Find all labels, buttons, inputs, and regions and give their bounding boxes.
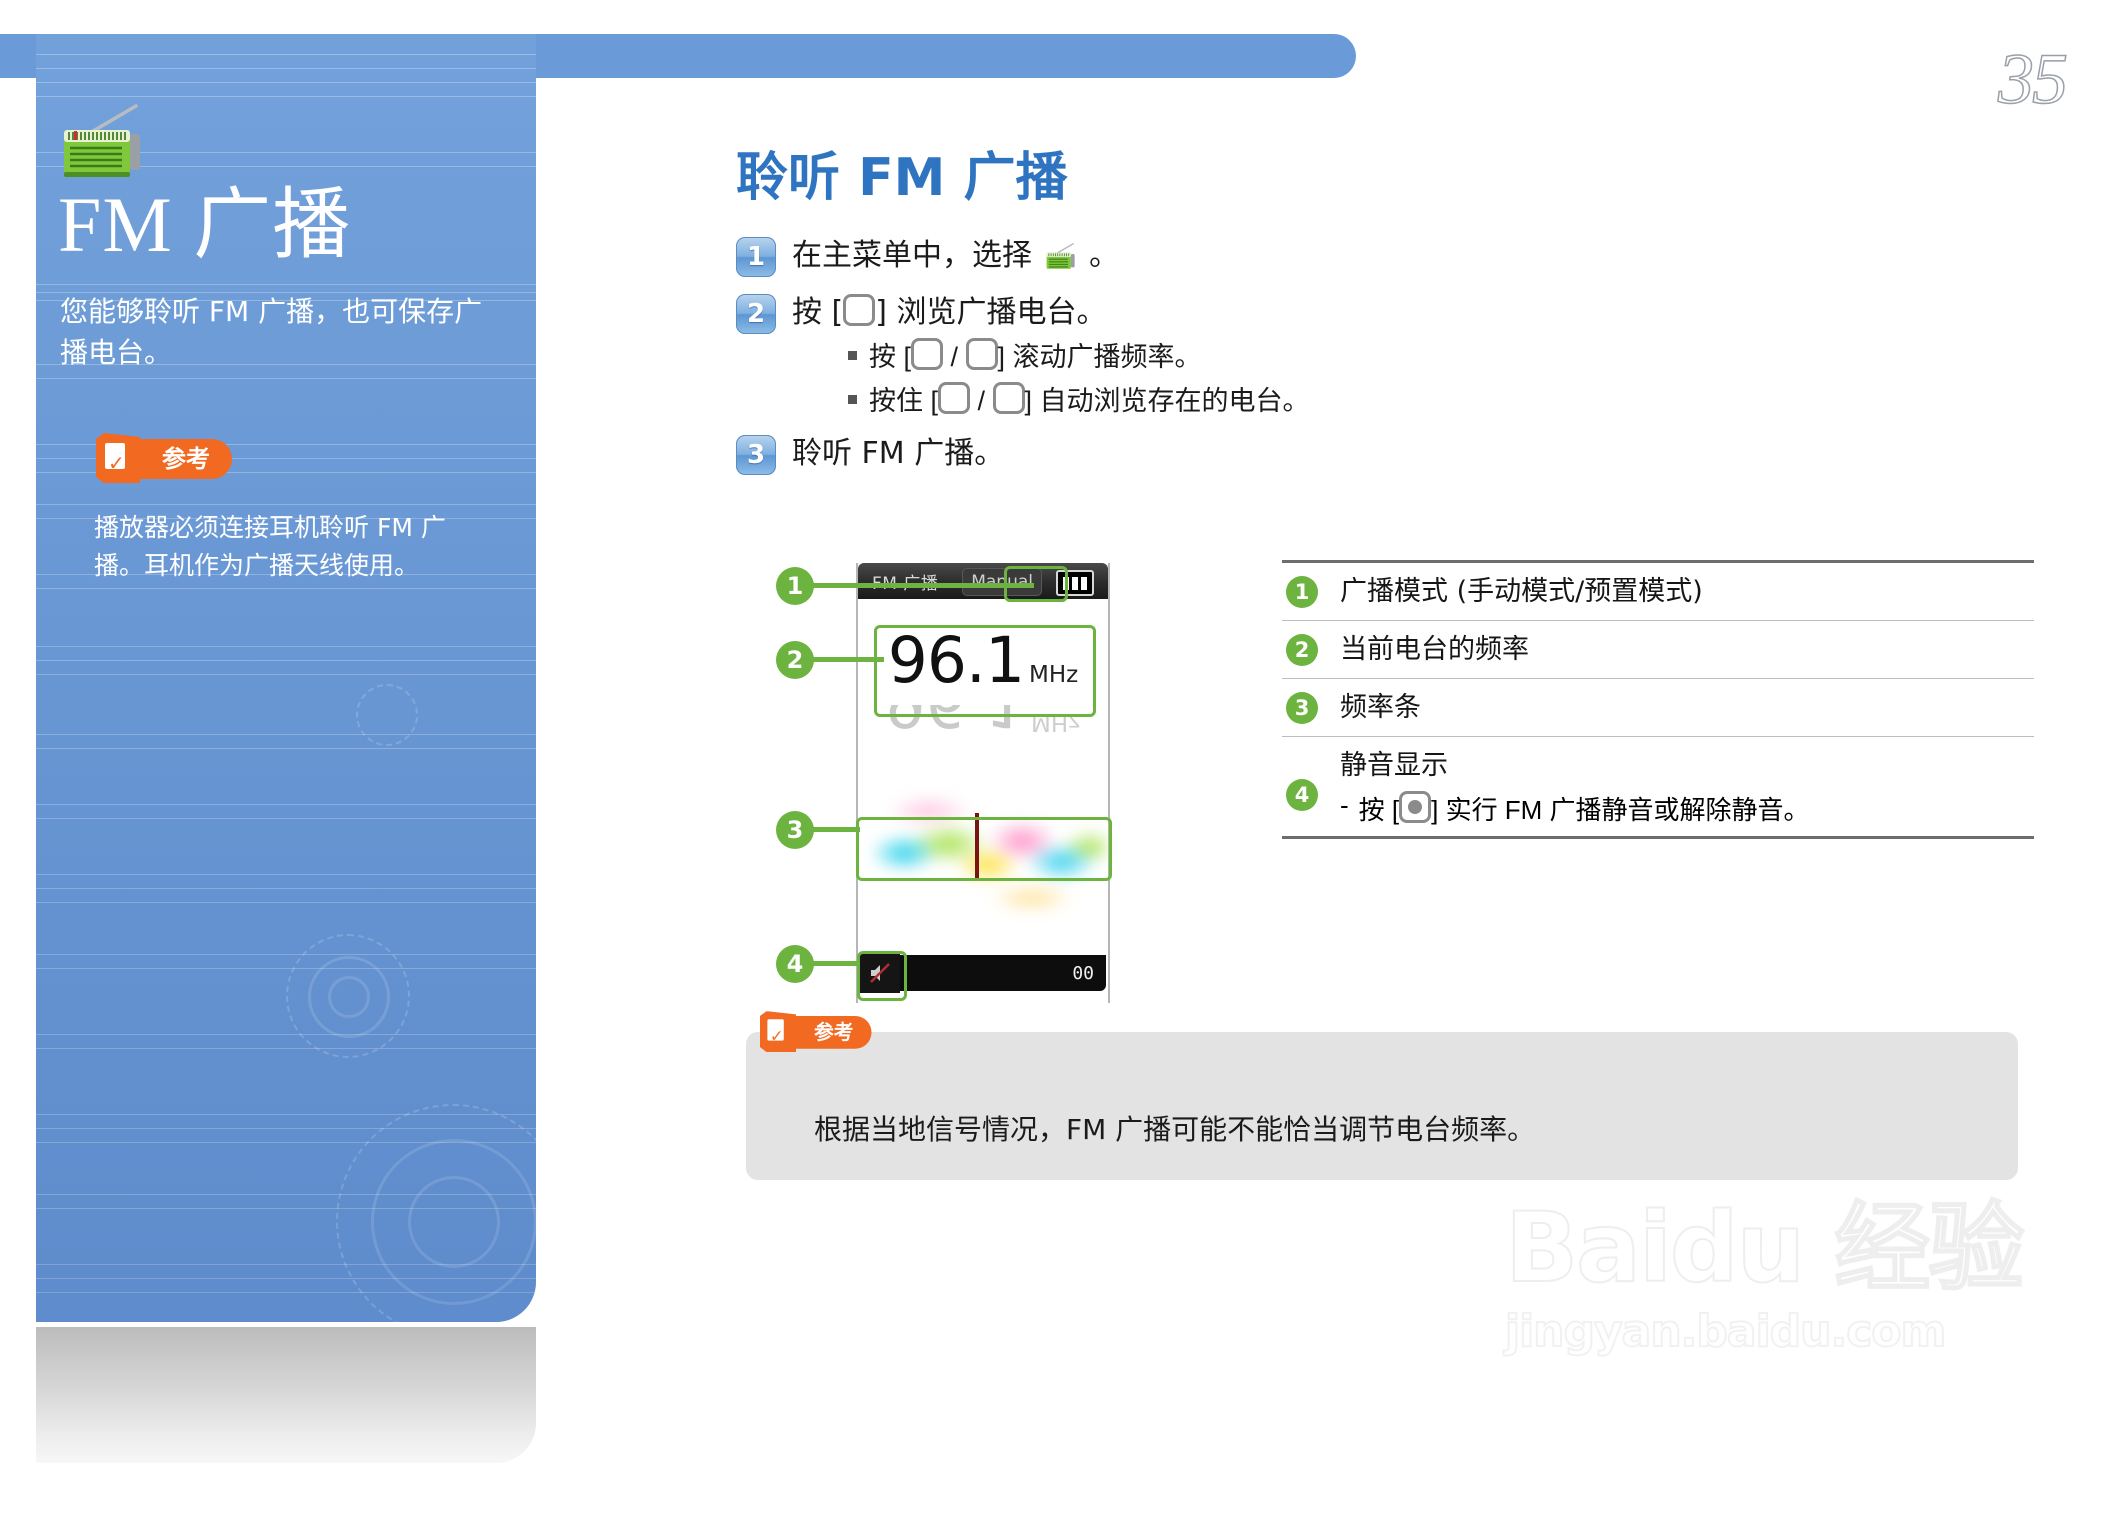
center-key-icon xyxy=(1399,791,1431,823)
page-number: 35 xyxy=(1998,38,2066,121)
step-2-text-after: ] 浏览广播电台。 xyxy=(875,295,1106,330)
step-1-text-after: 。 xyxy=(1089,238,1119,273)
step-1: 1 在主菜单中，选择 xyxy=(736,233,2066,284)
sidebar-title-cjk: 广播 xyxy=(193,180,351,270)
legend-table: 1 广播模式 (手动模式/预置模式) 2 当前电台的频率 3 频率条 4 静音显… xyxy=(1282,560,2034,839)
legend-subtext-4: - 按 [] 实行 FM 广播静音或解除静音。 xyxy=(1340,790,1810,827)
note-box-tag: ✓ 参考 xyxy=(760,1016,872,1049)
note-check-glyph: ✓ xyxy=(108,454,125,474)
highlight-frequency xyxy=(874,625,1096,717)
watermark-main: Baidu 经验 xyxy=(1505,1200,2025,1296)
sidebar-reflection xyxy=(36,1327,536,1463)
step-2-substep-1-text: 按 [ / ] 滚动广播频率。 xyxy=(869,337,1202,379)
bullet-icon xyxy=(848,351,857,360)
bullet-icon xyxy=(848,395,857,404)
step-3-text: 聆听 FM 广播。 xyxy=(792,431,1004,476)
sidebar-note-text: 播放器必须连接耳机聆听 FM 广播。耳机作为广播天线使用。 xyxy=(94,509,494,584)
legend-num-4: 4 xyxy=(1286,779,1318,811)
callout-3: 3 xyxy=(776,811,814,849)
step-1-text-before: 在主菜单中，选择 xyxy=(792,238,1032,273)
radio-icon xyxy=(1044,239,1078,284)
callout-4-leader xyxy=(812,961,860,966)
legend-num-3: 3 xyxy=(1286,692,1318,724)
highlight-mode xyxy=(1004,566,1068,602)
device-preset-count: 00 xyxy=(1072,963,1094,984)
legend-row-1: 1 广播模式 (手动模式/预置模式) xyxy=(1282,563,2034,620)
step-2-substep-1: 按 [ / ] 滚动广播频率。 xyxy=(848,337,1310,379)
note-box-text: 根据当地信号情况，FM 广播可能不能恰当调节电台频率。 xyxy=(814,1108,1535,1148)
callout-1-leader xyxy=(812,583,1034,588)
step-1-badge: 1 xyxy=(736,237,776,277)
legend-dash: - xyxy=(1340,790,1349,821)
step-2-badge: 2 xyxy=(736,294,776,334)
up-key-icon xyxy=(911,338,943,370)
legend-row-4: 4 静音显示 - 按 [] 实行 FM 广播静音或解除静音。 xyxy=(1282,737,2034,835)
step-2-text-before: 按 [ xyxy=(792,295,843,330)
baidu-watermark: Baidu 经验 jingyan.baidu.com xyxy=(1505,1200,2025,1440)
watermark-sub: jingyan.baidu.com xyxy=(1505,1306,2025,1357)
legend-rule-bottom xyxy=(1282,836,2034,839)
device-screen: FM 广播 Manual 96.1 MHz 96.1 MHz 00 xyxy=(856,563,1110,1003)
note-box: ✓ 参考 根据当地信号情况，FM 广播可能不能恰当调节电台频率。 xyxy=(746,1032,2018,1180)
callout-2: 2 xyxy=(776,641,814,679)
step-3: 3 聆听 FM 广播。 xyxy=(736,431,2066,476)
step-2-substep-2: 按住 [ / ] 自动浏览存在的电台。 xyxy=(848,381,1310,423)
sidebar-title-latin: FM xyxy=(58,181,173,268)
select-key-icon xyxy=(843,294,875,326)
radio-icon xyxy=(60,104,146,185)
up-key-icon xyxy=(938,382,970,414)
step-2: 2 按 [] 浏览广播电台。 按 [ / ] 滚动广播频率。 按住 [ / ] … xyxy=(736,290,2066,423)
highlight-mute xyxy=(857,951,907,1001)
step-1-text: 在主菜单中，选择 xyxy=(792,233,1119,284)
callout-3-leader xyxy=(812,827,860,832)
down-key-icon xyxy=(993,382,1025,414)
legend-text-4: 静音显示 xyxy=(1340,746,1810,785)
step-2-substep-2-text: 按住 [ / ] 自动浏览存在的电台。 xyxy=(869,381,1310,423)
note-check-glyph: ✓ xyxy=(770,1028,784,1044)
sidebar: FM 广播 您能够聆听 FM 广播，也可保存广播电台。 ✓ 参考 播放器必须连接… xyxy=(36,34,536,1322)
highlight-bar xyxy=(856,817,1112,881)
sidebar-subtitle: 您能够聆听 FM 广播，也可保存广播电台。 xyxy=(60,292,490,373)
legend-num-2: 2 xyxy=(1286,634,1318,666)
legend-row-2: 2 当前电台的频率 xyxy=(1282,621,2034,678)
main-content: 聆听 FM 广播 1 在主菜单中，选择 xyxy=(736,150,2066,482)
callout-1: 1 xyxy=(776,567,814,605)
sidebar-note-tag: ✓ 参考 xyxy=(96,439,232,479)
legend-text-1: 广播模式 (手动模式/预置模式) xyxy=(1340,572,1703,611)
device-title: FM 广播 xyxy=(872,569,938,594)
callout-4: 4 xyxy=(776,945,814,983)
sidebar-title: FM 广播 xyxy=(58,186,351,264)
page-title: 聆听 FM 广播 xyxy=(736,150,2066,207)
legend-subtext-4-content: 按 [] 实行 FM 广播静音或解除静音。 xyxy=(1359,790,1810,827)
down-key-icon xyxy=(966,338,998,370)
legend-text-3: 频率条 xyxy=(1340,688,1421,727)
step-3-badge: 3 xyxy=(736,435,776,475)
step-2-text: 按 [] 浏览广播电台。 xyxy=(792,290,1310,335)
device-titlebar: FM 广播 Manual xyxy=(858,563,1108,599)
legend-text-2: 当前电台的频率 xyxy=(1340,630,1529,669)
legend-row-3: 3 频率条 xyxy=(1282,679,2034,736)
legend-num-1: 1 xyxy=(1286,576,1318,608)
